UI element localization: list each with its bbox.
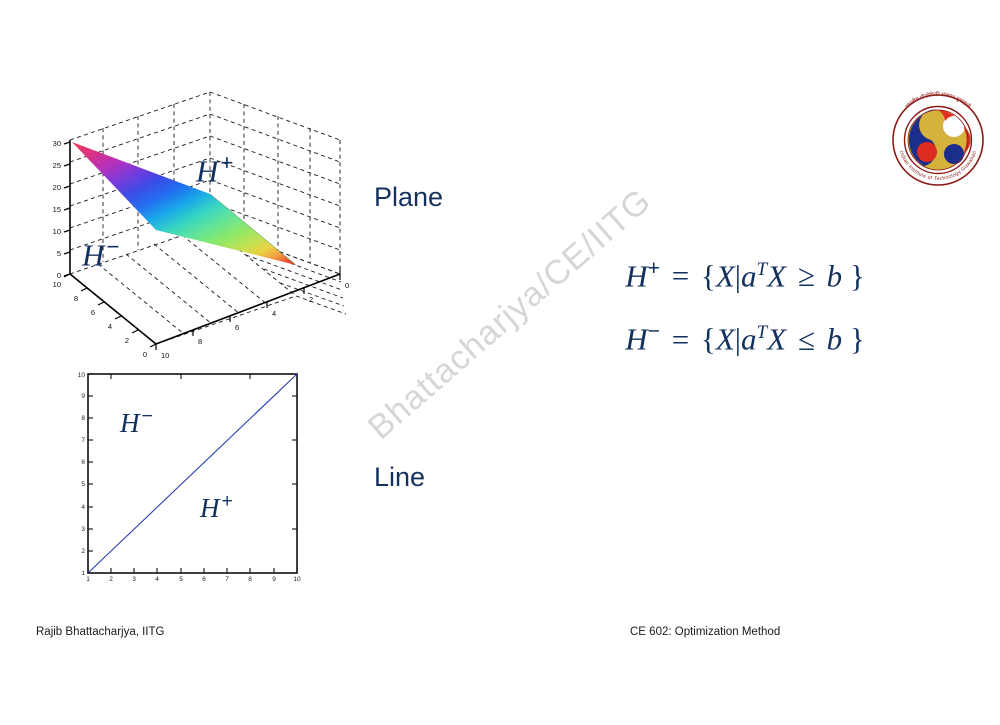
svg-text:7: 7	[81, 437, 85, 444]
svg-text:3: 3	[132, 576, 136, 583]
line-h-minus-label: H−	[120, 405, 153, 439]
svg-text:6: 6	[202, 576, 206, 583]
iit-guwahati-logo: भारतीय प्रौद्योगिकी संस्थान गुवाहाटी Ind…	[884, 86, 992, 194]
svg-text:20: 20	[53, 183, 61, 192]
plane-h-plus-sign: +	[218, 150, 233, 175]
svg-text:3: 3	[81, 526, 85, 533]
x-axis-ticks: 10 8 6 4 2 0	[156, 274, 349, 360]
plane-h-plus-label: H+	[196, 150, 233, 189]
svg-text:2: 2	[109, 576, 113, 583]
logo-svg: भारतीय प्रौद्योगिकी संस्थान गुवाहाटी Ind…	[884, 86, 992, 194]
line-h-plus-symbol: H	[200, 493, 220, 523]
eq-hminus-H: H	[625, 322, 647, 357]
svg-text:4: 4	[81, 504, 85, 511]
svg-text:10: 10	[53, 280, 61, 289]
plane-h-minus-symbol: H	[82, 237, 104, 272]
svg-text:8: 8	[81, 415, 85, 422]
svg-text:6: 6	[91, 308, 95, 317]
logo-red-ball	[917, 142, 937, 162]
eq-hplus-open-brace: {	[701, 258, 716, 293]
slide-footer: Rajib Bhattacharjya, IITG CE 602: Optimi…	[0, 626, 1000, 648]
svg-text:6: 6	[81, 459, 85, 466]
line-x-tick-labels: 1 2 3 4 5 6 7 8 9 10	[86, 576, 301, 583]
line-h-plus-sign: +	[220, 490, 233, 512]
eq-hminus-relation: ≤	[794, 322, 819, 357]
eq-hplus-setvar: X	[716, 258, 735, 293]
svg-text:0: 0	[57, 271, 61, 280]
eq-hplus-transpose: T	[756, 259, 767, 280]
eq-hminus-setvar: X	[716, 322, 735, 357]
equation-h-minus: H− = {X|aTX ≤ b }	[545, 321, 945, 354]
svg-text:2: 2	[81, 548, 85, 555]
svg-text:5: 5	[57, 249, 61, 258]
svg-text:10: 10	[78, 372, 86, 379]
equation-h-plus: H+ = {X|aTX ≥ b }	[545, 258, 945, 291]
line-2d-figure: 1 2 3 4 5 6 7 8 9 10	[72, 368, 312, 583]
svg-text:15: 15	[53, 205, 61, 214]
svg-text:8: 8	[198, 337, 202, 346]
svg-text:1: 1	[81, 570, 85, 577]
svg-text:1: 1	[86, 576, 90, 583]
z-axis-ticks: 0 5 10 15 20 25 30	[53, 139, 70, 280]
svg-text:30: 30	[53, 139, 61, 148]
plane-3d-figure: 0 5 10 15 20 25 30 10 8 6 4 2 0	[28, 78, 358, 368]
eq-hminus-x: X	[767, 322, 786, 357]
eq-hplus-relation: ≥	[794, 258, 819, 293]
eq-hplus-sign: +	[648, 257, 660, 280]
svg-text:4: 4	[155, 576, 159, 583]
footer-course: CE 602: Optimization Method	[630, 626, 780, 638]
svg-text:25: 25	[53, 161, 61, 170]
eq-hplus-a: a	[741, 258, 757, 293]
svg-text:2: 2	[125, 336, 129, 345]
line-h-plus-label: H+	[200, 490, 233, 524]
line-y-tick-labels: 1 2 3 4 5 6 7 8 9 10	[78, 372, 86, 577]
svg-text:10: 10	[293, 576, 301, 583]
eq-hplus-H: H	[625, 258, 647, 293]
eq-hminus-transpose: T	[756, 322, 767, 343]
eq-hminus-equals: =	[668, 322, 693, 357]
svg-text:0: 0	[345, 281, 349, 290]
line-h-minus-sign: −	[140, 405, 153, 427]
svg-text:10: 10	[53, 227, 61, 236]
logo-blue-ball	[944, 144, 964, 164]
eq-hminus-open-brace: {	[701, 322, 716, 357]
plane-callout-label: Plane	[374, 182, 443, 213]
eq-hplus-equals: =	[668, 258, 693, 293]
svg-text:4: 4	[108, 322, 112, 331]
svg-text:4: 4	[272, 309, 276, 318]
line-callout-label: Line	[374, 462, 425, 493]
eq-hplus-close-brace: }	[850, 258, 865, 293]
footer-author: Rajib Bhattacharjya, IITG	[36, 626, 164, 638]
svg-text:2: 2	[309, 295, 313, 304]
eq-hminus-b: b	[827, 322, 843, 357]
svg-text:8: 8	[248, 576, 252, 583]
y-axis-ticks: 10 8 6 4 2 0	[53, 274, 156, 359]
eq-hminus-close-brace: }	[850, 322, 865, 357]
eq-hplus-x: X	[767, 258, 786, 293]
plane-3d-svg: 0 5 10 15 20 25 30 10 8 6 4 2 0	[28, 78, 358, 368]
svg-text:9: 9	[272, 576, 276, 583]
svg-text:5: 5	[81, 481, 85, 488]
svg-text:9: 9	[81, 393, 85, 400]
equations-block: H+ = {X|aTX ≥ b } H− = {X|aTX ≤ b }	[545, 258, 945, 385]
line-h-minus-symbol: H	[120, 408, 140, 438]
svg-text:5: 5	[179, 576, 183, 583]
svg-text:10: 10	[161, 351, 169, 360]
eq-hminus-sign: −	[648, 320, 660, 343]
plane-h-plus-symbol: H	[196, 153, 218, 188]
plane-h-minus-sign: −	[104, 234, 119, 259]
svg-text:6: 6	[235, 323, 239, 332]
line-2d-svg: 1 2 3 4 5 6 7 8 9 10	[72, 368, 312, 583]
eq-hplus-b: b	[827, 258, 843, 293]
eq-hminus-a: a	[741, 322, 757, 357]
plane-h-minus-label: H−	[82, 234, 119, 273]
svg-text:0: 0	[143, 350, 147, 359]
svg-text:7: 7	[225, 576, 229, 583]
svg-text:8: 8	[74, 294, 78, 303]
